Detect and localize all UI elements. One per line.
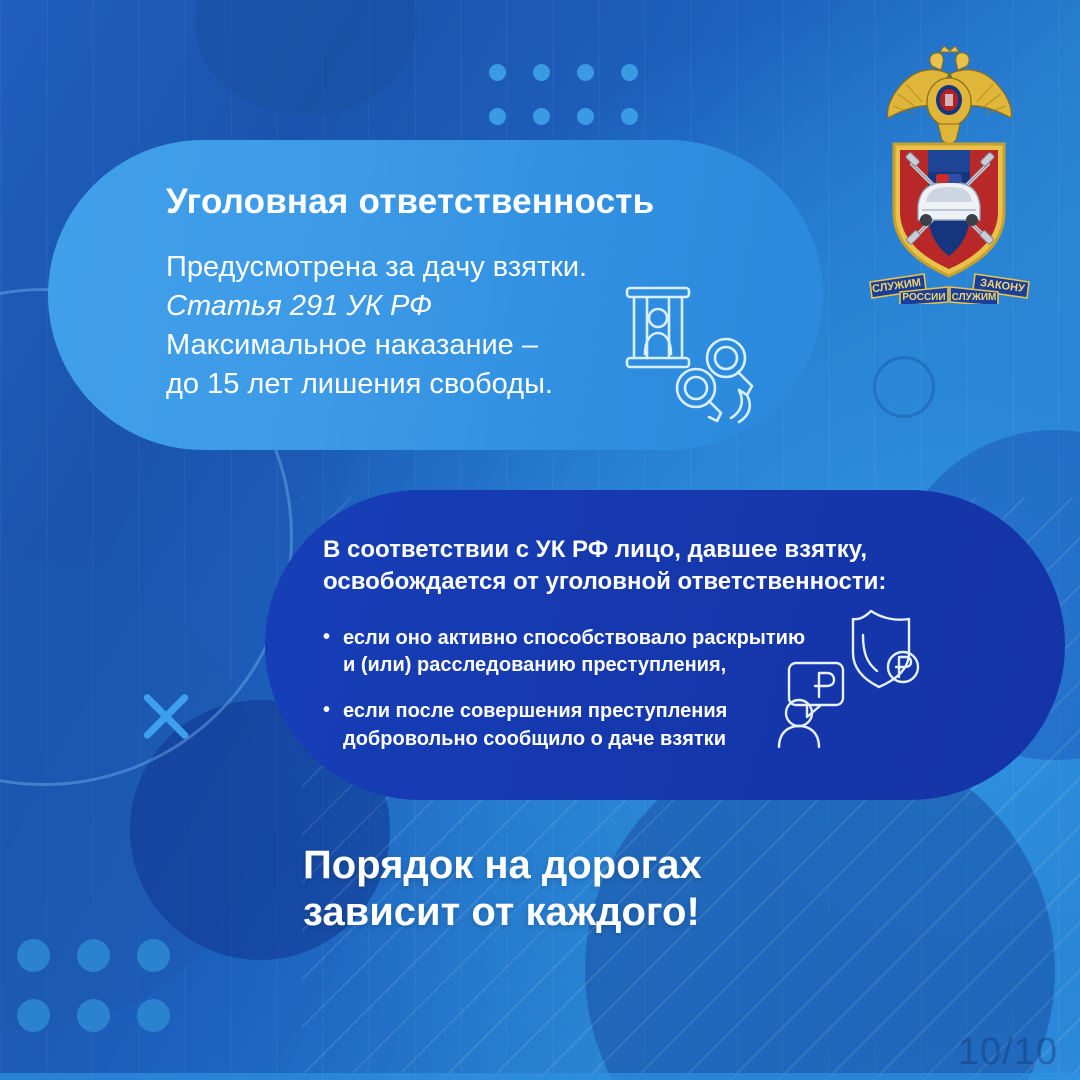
mvd-gibdd-emblem: СЛУЖИМ РОССИИ СЛУЖИМ ЗАКОНУ xyxy=(862,44,1037,304)
poster-canvas: СЛУЖИМ РОССИИ СЛУЖИМ ЗАКОНУ Уголовная от… xyxy=(0,0,1080,1080)
card-criminal-line1: Предусмотрена за дачу взятки. xyxy=(166,251,587,283)
dot-grid-bottom-left xyxy=(8,930,180,1042)
person-message-ruble-icon xyxy=(779,663,843,747)
card-criminal-line4: до 15 лет лишения свободы. xyxy=(166,368,553,400)
handcuffs-icon xyxy=(677,339,752,422)
emblem-motto-center-left: РОССИИ xyxy=(902,292,945,303)
slogan-line-2: зависит от каждого! xyxy=(303,889,923,936)
card-criminal-title: Уголовная ответственность xyxy=(166,182,763,222)
slogan: Порядок на дорогах зависит от каждого! xyxy=(303,842,923,936)
card-criminal-line2: Статья 291 УК РФ xyxy=(166,290,432,322)
card-release-from-liability: В соответствии с УК РФ лицо, давшее взят… xyxy=(265,490,1065,800)
bullet-1-line-2: и (или) расследованию преступления, xyxy=(343,654,726,676)
card-criminal-body: Предусмотрена за дачу взятки. Статья 291… xyxy=(166,248,686,403)
card-release-lead: В соответствии с УК РФ лицо, давшее взят… xyxy=(323,534,1003,599)
bullet-2-line-2: добровольно сообщило о даче взятки xyxy=(343,728,726,750)
card-criminal-line3: Максимальное наказание – xyxy=(166,329,538,361)
card-criminal-liability: Уголовная ответственность Предусмотрена … xyxy=(48,140,823,450)
page-counter: 10/10 xyxy=(958,1031,1058,1074)
cross-x-icon xyxy=(138,688,194,744)
bottom-accent-bar xyxy=(0,1073,1080,1080)
bullet-1-line-1: если оно активно способствовало раскрыти… xyxy=(343,627,805,649)
shield-ruble-icon xyxy=(853,611,918,687)
emblem-motto-center-right: СЛУЖИМ xyxy=(952,292,997,303)
card-release-lead-line1: В соответствии с УК РФ лицо, давшее взят… xyxy=(323,536,867,563)
card-release-icons xyxy=(775,605,945,750)
slogan-line-1: Порядок на дорогах xyxy=(303,842,923,889)
card-release-lead-line2: освобождается от уголовной ответственнос… xyxy=(323,568,886,595)
dot-grid-top xyxy=(483,58,645,132)
decorative-ring-small xyxy=(873,356,935,418)
bullet-2-line-1: если после совершения преступления xyxy=(343,700,727,722)
